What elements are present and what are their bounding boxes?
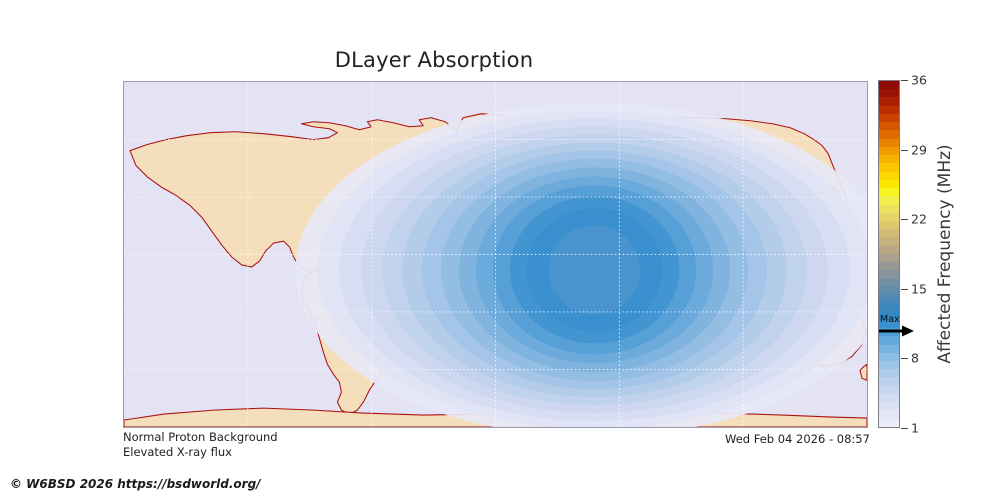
colorbar-tick-mark <box>901 150 908 151</box>
colorbar-band <box>879 361 899 369</box>
colorbar-band <box>879 336 899 344</box>
colorbar-tick-label: 22 <box>911 212 927 227</box>
colorbar-band <box>879 221 899 229</box>
colorbar-band <box>879 106 899 114</box>
colorbar-band <box>879 155 899 163</box>
world-map-panel[interactable] <box>123 81 868 428</box>
colorbar-band <box>879 394 899 402</box>
absorption-contour-band <box>549 225 641 314</box>
colorbar-tick-mark <box>901 219 908 220</box>
colorbar-band <box>879 320 899 328</box>
colorbar-band <box>879 237 899 245</box>
colorbar-band <box>879 205 899 213</box>
colorbar-band <box>879 89 899 97</box>
colorbar-band <box>879 254 899 262</box>
colorbar-tick-label: 1 <box>911 421 919 436</box>
colorbar-band <box>879 130 899 138</box>
colorbar-band <box>879 287 899 295</box>
colorbar-band <box>879 303 899 311</box>
copyright-label: © W6BSD 2026 https://bsdworld.org/ <box>10 477 261 491</box>
colorbar-band <box>879 279 899 287</box>
colorbar-band <box>879 410 899 418</box>
colorbar-band <box>879 246 899 254</box>
colorbar-band <box>879 147 899 155</box>
colorbar-tick-mark <box>901 80 908 81</box>
colorbar-tick-mark <box>901 428 908 429</box>
colorbar-tick-label: 8 <box>911 351 919 366</box>
colorbar-band <box>879 196 899 204</box>
colorbar[interactable]: 1815222936 <box>878 80 900 428</box>
colorbar-band <box>879 386 899 394</box>
colorbar-band <box>879 180 899 188</box>
colorbar-band <box>879 122 899 130</box>
colorbar-band <box>879 81 899 89</box>
colorbar-band <box>879 229 899 237</box>
world-map-svg <box>124 82 867 427</box>
page-title: DLayer Absorption <box>0 48 868 72</box>
colorbar-band <box>879 262 899 270</box>
colorbar-band <box>879 139 899 147</box>
colorbar-band <box>879 402 899 410</box>
colorbar-axis-label: Affected Frequency (MHz) <box>935 80 957 428</box>
colorbar-band <box>879 97 899 105</box>
colorbar-band <box>879 369 899 377</box>
colorbar-band <box>879 345 899 353</box>
colorbar-band <box>879 312 899 320</box>
colorbar-band <box>879 188 899 196</box>
note-xray-flux: Elevated X-ray flux <box>123 445 232 459</box>
colorbar-band <box>879 114 899 122</box>
colorbar-band <box>879 163 899 171</box>
colorbar-band <box>879 213 899 221</box>
colorbar-band <box>879 419 899 427</box>
colorbar-band <box>879 172 899 180</box>
note-proton-background: Normal Proton Background <box>123 430 278 444</box>
colorbar-tick-mark <box>901 358 908 359</box>
colorbar-band <box>879 295 899 303</box>
colorbar-band <box>879 353 899 361</box>
colorbar-tick-label: 36 <box>911 73 927 88</box>
colorbar-gradient <box>878 80 900 428</box>
colorbar-band <box>879 328 899 336</box>
timestamp-label: Wed Feb 04 2026 - 08:57 <box>725 432 870 446</box>
colorbar-tick-mark <box>901 289 908 290</box>
colorbar-tick-label: 29 <box>911 142 927 157</box>
colorbar-tick-label: 15 <box>911 281 927 296</box>
colorbar-band <box>879 270 899 278</box>
colorbar-band <box>879 377 899 385</box>
